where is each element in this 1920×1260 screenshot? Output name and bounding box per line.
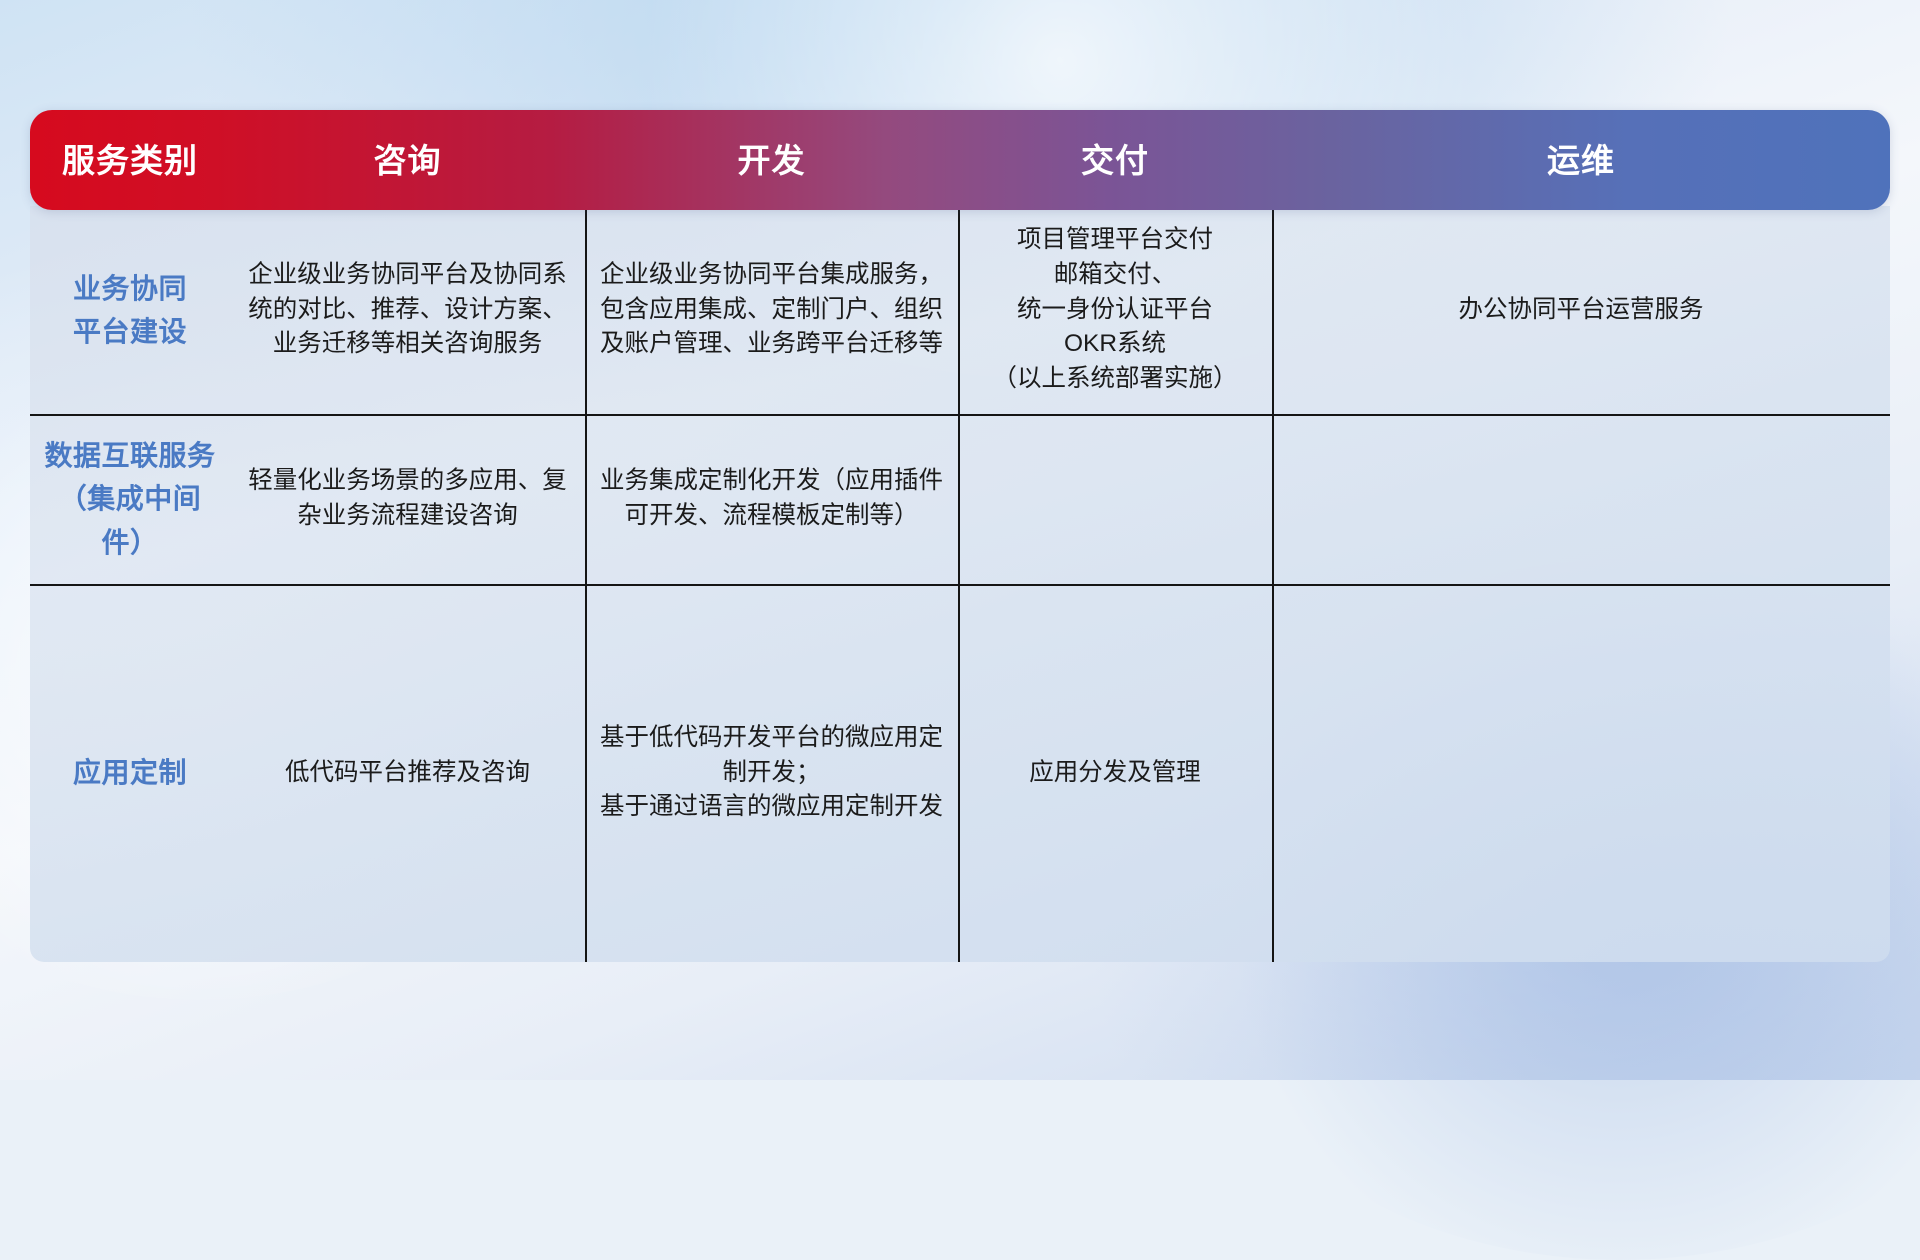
- cell-text: 低代码平台推荐及咨询: [285, 756, 530, 791]
- table-row: 应用定制 低代码平台推荐及咨询 基于低代码开发平台的微应用定 制开发； 基于通过…: [30, 584, 1890, 962]
- cell-operations: [1272, 584, 1890, 962]
- column-header-operations: 运维: [1272, 144, 1890, 177]
- cell-text: 办公协同平台运营服务: [1459, 293, 1704, 328]
- cell-category: 业务协同 平台建设: [30, 206, 230, 414]
- cell-text: 轻量化业务场景的多应用、复 杂业务流程建设咨询: [248, 464, 567, 534]
- table-row: 数据互联服务 （集成中间件） 轻量化业务场景的多应用、复 杂业务流程建设咨询 业…: [30, 414, 1890, 584]
- cell-development: 基于低代码开发平台的微应用定 制开发； 基于通过语言的微应用定制开发: [585, 584, 958, 962]
- column-header-consulting: 咨询: [230, 144, 585, 177]
- column-divider-1: [585, 206, 587, 962]
- cell-text: 业务协同 平台建设: [73, 267, 187, 354]
- column-header-delivery: 交付: [958, 144, 1272, 177]
- cell-category: 应用定制: [30, 584, 230, 962]
- cell-text: 应用定制: [73, 751, 187, 794]
- column-divider-2: [958, 206, 960, 962]
- cell-text: 数据互联服务 （集成中间件）: [44, 434, 216, 564]
- cell-consulting: 轻量化业务场景的多应用、复 杂业务流程建设咨询: [230, 414, 585, 584]
- cell-category: 数据互联服务 （集成中间件）: [30, 414, 230, 584]
- cell-development: 业务集成定制化开发（应用插件 可开发、流程模板定制等）: [585, 414, 958, 584]
- cell-operations: [1272, 414, 1890, 584]
- service-category-table: 服务类别 咨询 开发 交付 运维 业务协同 平台建设 企业级业务协同平台及协同系…: [30, 110, 1890, 962]
- table-header-row: 服务类别 咨询 开发 交付 运维: [30, 110, 1890, 210]
- cell-text: 企业级业务协同平台及协同系 统的对比、推荐、设计方案、 业务迁移等相关咨询服务: [248, 258, 567, 362]
- cell-consulting: 低代码平台推荐及咨询: [230, 584, 585, 962]
- column-divider-3: [1272, 206, 1274, 962]
- cell-text: 应用分发及管理: [1029, 756, 1201, 791]
- cell-development: 企业级业务协同平台集成服务， 包含应用集成、定制门户、组织 及账户管理、业务跨平…: [585, 206, 958, 414]
- cell-text: 企业级业务协同平台集成服务， 包含应用集成、定制门户、组织 及账户管理、业务跨平…: [600, 258, 943, 362]
- cell-consulting: 企业级业务协同平台及协同系 统的对比、推荐、设计方案、 业务迁移等相关咨询服务: [230, 206, 585, 414]
- cell-delivery: [958, 414, 1272, 584]
- column-header-category: 服务类别: [30, 144, 230, 177]
- column-header-development: 开发: [585, 144, 958, 177]
- table-body: 业务协同 平台建设 企业级业务协同平台及协同系 统的对比、推荐、设计方案、 业务…: [30, 206, 1890, 962]
- cell-text: 基于低代码开发平台的微应用定 制开发； 基于通过语言的微应用定制开发: [600, 721, 943, 825]
- cell-operations: 办公协同平台运营服务: [1272, 206, 1890, 414]
- table-row: 业务协同 平台建设 企业级业务协同平台及协同系 统的对比、推荐、设计方案、 业务…: [30, 206, 1890, 414]
- cell-text: 业务集成定制化开发（应用插件 可开发、流程模板定制等）: [600, 464, 943, 534]
- cell-delivery: 应用分发及管理: [958, 584, 1272, 962]
- cell-delivery: 项目管理平台交付 邮箱交付、 统一身份认证平台 OKR系统 （以上系统部署实施）: [958, 206, 1272, 414]
- cell-text: 项目管理平台交付 邮箱交付、 统一身份认证平台 OKR系统 （以上系统部署实施）: [993, 223, 1238, 397]
